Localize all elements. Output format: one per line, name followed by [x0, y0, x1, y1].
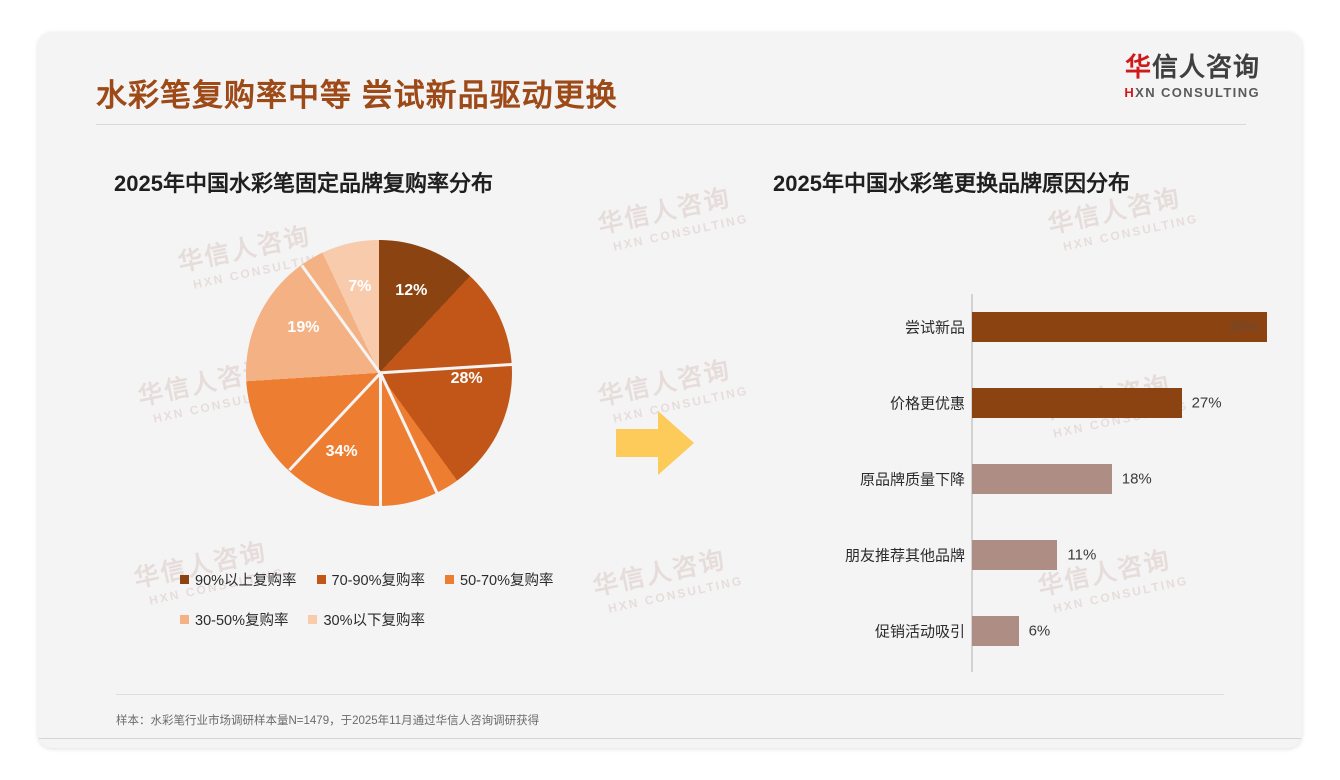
slide-root: 华信人咨询 HXN CONSULTING 华信人咨询 HXN CONSULTIN…: [0, 0, 1340, 780]
pie-slice-label: 28%: [451, 370, 483, 388]
bar-row: 价格更优惠27%: [738, 388, 1283, 418]
pie-legend-row: 90%以上复购率70-90%复购率50-70%复购率: [180, 569, 650, 590]
pie-legend-item[interactable]: 90%以上复购率: [180, 569, 297, 590]
pie-slice-label: 12%: [395, 282, 427, 300]
bar-row: 朋友推荐其他品牌11%: [738, 540, 1283, 570]
pie-legend: 90%以上复购率70-90%复购率50-70%复购率30-50%复购率30%以下…: [180, 569, 650, 649]
bar-fill[interactable]: [972, 388, 1182, 418]
legend-swatch-icon: [180, 615, 189, 624]
legend-swatch-icon: [317, 575, 326, 584]
pie-legend-item[interactable]: 50-70%复购率: [445, 569, 553, 590]
logo-english: HXN CONSULTING: [1124, 86, 1260, 99]
pie-legend-item[interactable]: 30%以下复购率: [308, 609, 425, 630]
logo-chinese-accent: 华: [1125, 52, 1152, 82]
bar-category-label: 价格更优惠: [890, 393, 965, 414]
bar-category-label: 促销活动吸引: [875, 621, 965, 642]
legend-swatch-icon: [180, 575, 189, 584]
bar-fill[interactable]: [972, 616, 1019, 646]
header-divider: [96, 124, 1246, 125]
bar-value-label: 38%: [1229, 319, 1259, 336]
bar-value-label: 27%: [1192, 395, 1222, 412]
footer-divider: [38, 738, 1302, 739]
pie-chart: 12%28%34%19%7%: [98, 232, 618, 562]
bar-row: 促销活动吸引6%: [738, 616, 1283, 646]
watermark-line2: HXN CONSULTING: [1062, 211, 1200, 253]
legend-swatch-icon: [445, 575, 454, 584]
bar-fill[interactable]: [972, 540, 1057, 570]
bar-chart-title: 2025年中国水彩笔更换品牌原因分布: [773, 166, 1130, 198]
logo-chinese: 华信人咨询: [1124, 54, 1260, 80]
right-arrow-icon: [616, 407, 694, 479]
watermark-line2: HXN CONSULTING: [612, 211, 750, 253]
logo-english-accent: H: [1124, 85, 1135, 100]
bar-category-label: 原品牌质量下降: [860, 469, 965, 490]
company-logo: 华信人咨询 HXN CONSULTING: [1124, 54, 1260, 99]
pie-legend-label: 30-50%复购率: [195, 609, 288, 630]
bar-row: 原品牌质量下降18%: [738, 464, 1283, 494]
slide-card: 华信人咨询 HXN CONSULTING 华信人咨询 HXN CONSULTIN…: [38, 32, 1302, 748]
bar-fill[interactable]: [972, 464, 1112, 494]
pie-legend-label: 70-90%复购率: [332, 569, 425, 590]
bar-value-label: 18%: [1122, 471, 1152, 488]
pie-legend-label: 50-70%复购率: [460, 569, 553, 590]
pie-legend-label: 30%以下复购率: [323, 609, 425, 630]
pie-slice-label: 34%: [326, 443, 358, 461]
bar-category-label: 朋友推荐其他品牌: [845, 545, 965, 566]
pie-slice-label: 19%: [287, 319, 319, 337]
bar-fill[interactable]: [972, 312, 1267, 342]
pie-chart-title: 2025年中国水彩笔固定品牌复购率分布: [114, 166, 493, 198]
bar-chart: 尝试新品38%价格更优惠27%原品牌质量下降18%朋友推荐其他品牌11%促销活动…: [738, 282, 1283, 677]
pie-legend-item[interactable]: 70-90%复购率: [317, 569, 425, 590]
bar-value-label: 11%: [1067, 547, 1096, 564]
footnote-divider: [116, 694, 1224, 695]
footnote: 样本：水彩笔行业市场调研样本量N=1479，于2025年11月通过华信人咨询调研…: [116, 712, 539, 728]
bar-category-label: 尝试新品: [905, 317, 965, 338]
bar-value-label: 6%: [1029, 623, 1051, 640]
bar-row: 尝试新品38%: [738, 312, 1283, 342]
legend-swatch-icon: [308, 615, 317, 624]
pie-legend-label: 90%以上复购率: [195, 569, 297, 590]
pie-legend-row: 30-50%复购率30%以下复购率: [180, 609, 650, 630]
pie-slice-label: 7%: [348, 278, 371, 296]
logo-chinese-rest: 信人咨询: [1152, 52, 1260, 82]
pie-legend-item[interactable]: 30-50%复购率: [180, 609, 288, 630]
logo-english-rest: XN CONSULTING: [1135, 85, 1260, 100]
page-title: 水彩笔复购率中等 尝试新品驱动更换: [96, 70, 618, 115]
